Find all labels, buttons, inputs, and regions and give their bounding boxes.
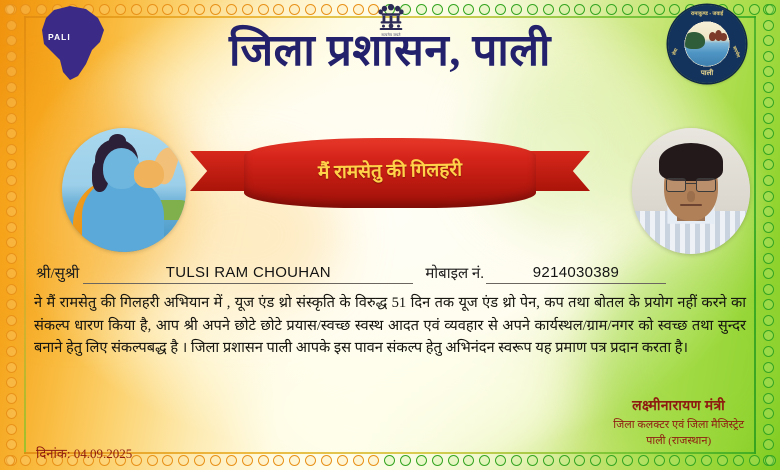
signature-block: लक्ष्मीनारायण मंत्री जिला कलक्टर एवं जिल… bbox=[613, 396, 744, 448]
border-bead bbox=[6, 439, 17, 450]
border-bead bbox=[763, 159, 774, 170]
border-bead bbox=[763, 144, 774, 155]
border-bead bbox=[162, 455, 173, 466]
border-bead bbox=[194, 455, 205, 466]
seal-top-text: रामाकुण्ड - जवाई bbox=[668, 9, 746, 17]
border-bead bbox=[226, 4, 237, 15]
border-bead bbox=[479, 4, 490, 15]
border-bead bbox=[147, 455, 158, 466]
recipient-name-value[interactable]: TULSI RAM CHOUHAN bbox=[83, 264, 413, 284]
border-bead bbox=[543, 4, 554, 15]
border-bead bbox=[321, 455, 332, 466]
border-bead bbox=[432, 4, 443, 15]
border-bead bbox=[763, 237, 774, 248]
border-bead bbox=[6, 128, 17, 139]
border-bead bbox=[622, 4, 633, 15]
border-bead bbox=[527, 455, 538, 466]
border-bead bbox=[543, 455, 554, 466]
border-bead bbox=[763, 82, 774, 93]
border-bead bbox=[527, 4, 538, 15]
border-bead bbox=[763, 362, 774, 373]
border-bead bbox=[6, 175, 17, 186]
border-bead bbox=[763, 175, 774, 186]
border-bead bbox=[210, 455, 221, 466]
border-bead bbox=[559, 4, 570, 15]
border-bead bbox=[305, 455, 316, 466]
border-bead bbox=[763, 408, 774, 419]
border-bead bbox=[6, 206, 17, 217]
border-bead bbox=[6, 253, 17, 264]
certificate-page: PALI सत्यमेव जयते bbox=[0, 0, 780, 470]
border-bead bbox=[622, 455, 633, 466]
border-bead bbox=[416, 4, 427, 15]
border-bead bbox=[749, 455, 760, 466]
border-bead bbox=[669, 455, 680, 466]
border-bead bbox=[6, 82, 17, 93]
border-bead bbox=[273, 455, 284, 466]
border-bead bbox=[765, 4, 776, 15]
border-bead bbox=[6, 237, 17, 248]
border-bead bbox=[511, 4, 522, 15]
border-bead bbox=[606, 455, 617, 466]
border-bead bbox=[6, 330, 17, 341]
border-bead bbox=[495, 4, 506, 15]
border-bead bbox=[416, 455, 427, 466]
border-bead bbox=[289, 455, 300, 466]
border-bead bbox=[242, 4, 253, 15]
border-bead bbox=[763, 206, 774, 217]
border-bead bbox=[6, 315, 17, 326]
border-bead bbox=[763, 439, 774, 450]
border-bead bbox=[6, 268, 17, 279]
border-bead bbox=[765, 455, 776, 466]
border-bead bbox=[763, 424, 774, 435]
border-bead bbox=[337, 4, 348, 15]
border-bead bbox=[6, 144, 17, 155]
border-bead bbox=[6, 455, 17, 466]
border-bead bbox=[763, 128, 774, 139]
border-bead bbox=[763, 393, 774, 404]
border-bead bbox=[4, 455, 15, 466]
page-title: जिला प्रशासन, पाली bbox=[0, 28, 780, 74]
border-bead bbox=[131, 4, 142, 15]
border-bead bbox=[511, 455, 522, 466]
border-bead bbox=[210, 4, 221, 15]
border-bead bbox=[479, 455, 490, 466]
border-bead bbox=[6, 4, 17, 15]
border-bead bbox=[590, 455, 601, 466]
lord-rama-squirrel-illustration bbox=[62, 128, 186, 252]
border-bead bbox=[717, 455, 728, 466]
border-bead bbox=[305, 4, 316, 15]
border-bead bbox=[115, 4, 126, 15]
border-bead bbox=[258, 4, 269, 15]
border-bead bbox=[763, 284, 774, 295]
border-bead bbox=[242, 455, 253, 466]
mobile-label: मोबाइल नं. bbox=[425, 263, 484, 284]
border-bead bbox=[6, 113, 17, 124]
signatory-place: पाली (राजस्थान) bbox=[613, 433, 744, 448]
border-bead bbox=[400, 455, 411, 466]
border-bead bbox=[353, 455, 364, 466]
border-bead bbox=[701, 455, 712, 466]
border-bead bbox=[685, 455, 696, 466]
name-label: श्री/सुश्री bbox=[36, 263, 79, 284]
signatory-name: लक्ष्मीनारायण मंत्री bbox=[613, 396, 744, 415]
frame-line-right bbox=[754, 16, 756, 454]
border-bead bbox=[194, 4, 205, 15]
border-bead bbox=[763, 455, 774, 466]
border-bead bbox=[6, 408, 17, 419]
signatory-designation: जिला कलक्टर एवं जिला मैजिस्ट्रेट bbox=[613, 417, 744, 432]
issue-date: दिनांक: 04.09.2025 bbox=[36, 444, 132, 462]
border-bead bbox=[6, 159, 17, 170]
recipient-mobile-value[interactable]: 9214030389 bbox=[486, 264, 666, 284]
border-bead bbox=[162, 4, 173, 15]
border-bead bbox=[178, 455, 189, 466]
border-bead bbox=[321, 4, 332, 15]
frame-line-bottom bbox=[24, 452, 756, 454]
border-bead bbox=[258, 455, 269, 466]
border-bead bbox=[763, 4, 774, 15]
border-bead bbox=[178, 4, 189, 15]
border-bead bbox=[763, 222, 774, 233]
border-bead bbox=[131, 455, 142, 466]
border-bead bbox=[6, 346, 17, 357]
campaign-ribbon-banner: मैं रामसेतु की गिलहरी bbox=[190, 138, 590, 210]
border-bead bbox=[606, 4, 617, 15]
border-bead bbox=[763, 315, 774, 326]
border-bead bbox=[289, 4, 300, 15]
border-bead bbox=[733, 455, 744, 466]
border-bead bbox=[495, 455, 506, 466]
border-bead bbox=[6, 362, 17, 373]
border-bead bbox=[763, 346, 774, 357]
border-bead bbox=[353, 4, 364, 15]
border-bead bbox=[559, 455, 570, 466]
border-bead bbox=[273, 4, 284, 15]
certificate-body-paragraph: ने मैं रामसेतु की गिलहरी अभियान में , यू… bbox=[34, 292, 746, 360]
border-bead bbox=[226, 455, 237, 466]
border-bead bbox=[384, 455, 395, 466]
border-bead bbox=[337, 455, 348, 466]
frame-line-left bbox=[24, 16, 26, 454]
border-bead bbox=[6, 97, 17, 108]
border-bead bbox=[6, 284, 17, 295]
border-bead bbox=[20, 455, 31, 466]
border-bead bbox=[749, 4, 760, 15]
border-bead bbox=[463, 4, 474, 15]
border-bead bbox=[763, 377, 774, 388]
border-bead bbox=[368, 455, 379, 466]
border-bead bbox=[6, 191, 17, 202]
border-bead bbox=[6, 377, 17, 388]
border-bead bbox=[448, 4, 459, 15]
border-bead bbox=[6, 222, 17, 233]
recipient-photo bbox=[632, 128, 750, 254]
border-bead bbox=[654, 4, 665, 15]
border-bead bbox=[4, 4, 15, 15]
border-bead bbox=[763, 330, 774, 341]
border-bead bbox=[147, 4, 158, 15]
border-bead bbox=[448, 455, 459, 466]
border-bead bbox=[6, 424, 17, 435]
border-bead bbox=[763, 268, 774, 279]
border-bead bbox=[638, 455, 649, 466]
border-bead bbox=[463, 455, 474, 466]
border-bead bbox=[6, 299, 17, 310]
border-bead bbox=[574, 455, 585, 466]
border-bead bbox=[763, 191, 774, 202]
border-bead bbox=[6, 393, 17, 404]
border-bead bbox=[638, 4, 649, 15]
border-bead bbox=[763, 299, 774, 310]
border-bead bbox=[590, 4, 601, 15]
border-bead bbox=[432, 455, 443, 466]
border-bead bbox=[763, 253, 774, 264]
border-bead bbox=[654, 455, 665, 466]
border-bead bbox=[763, 97, 774, 108]
border-bead bbox=[763, 113, 774, 124]
border-bead bbox=[574, 4, 585, 15]
recipient-field-row: श्री/सुश्री TULSI RAM CHOUHAN मोबाइल नं.… bbox=[36, 262, 744, 284]
